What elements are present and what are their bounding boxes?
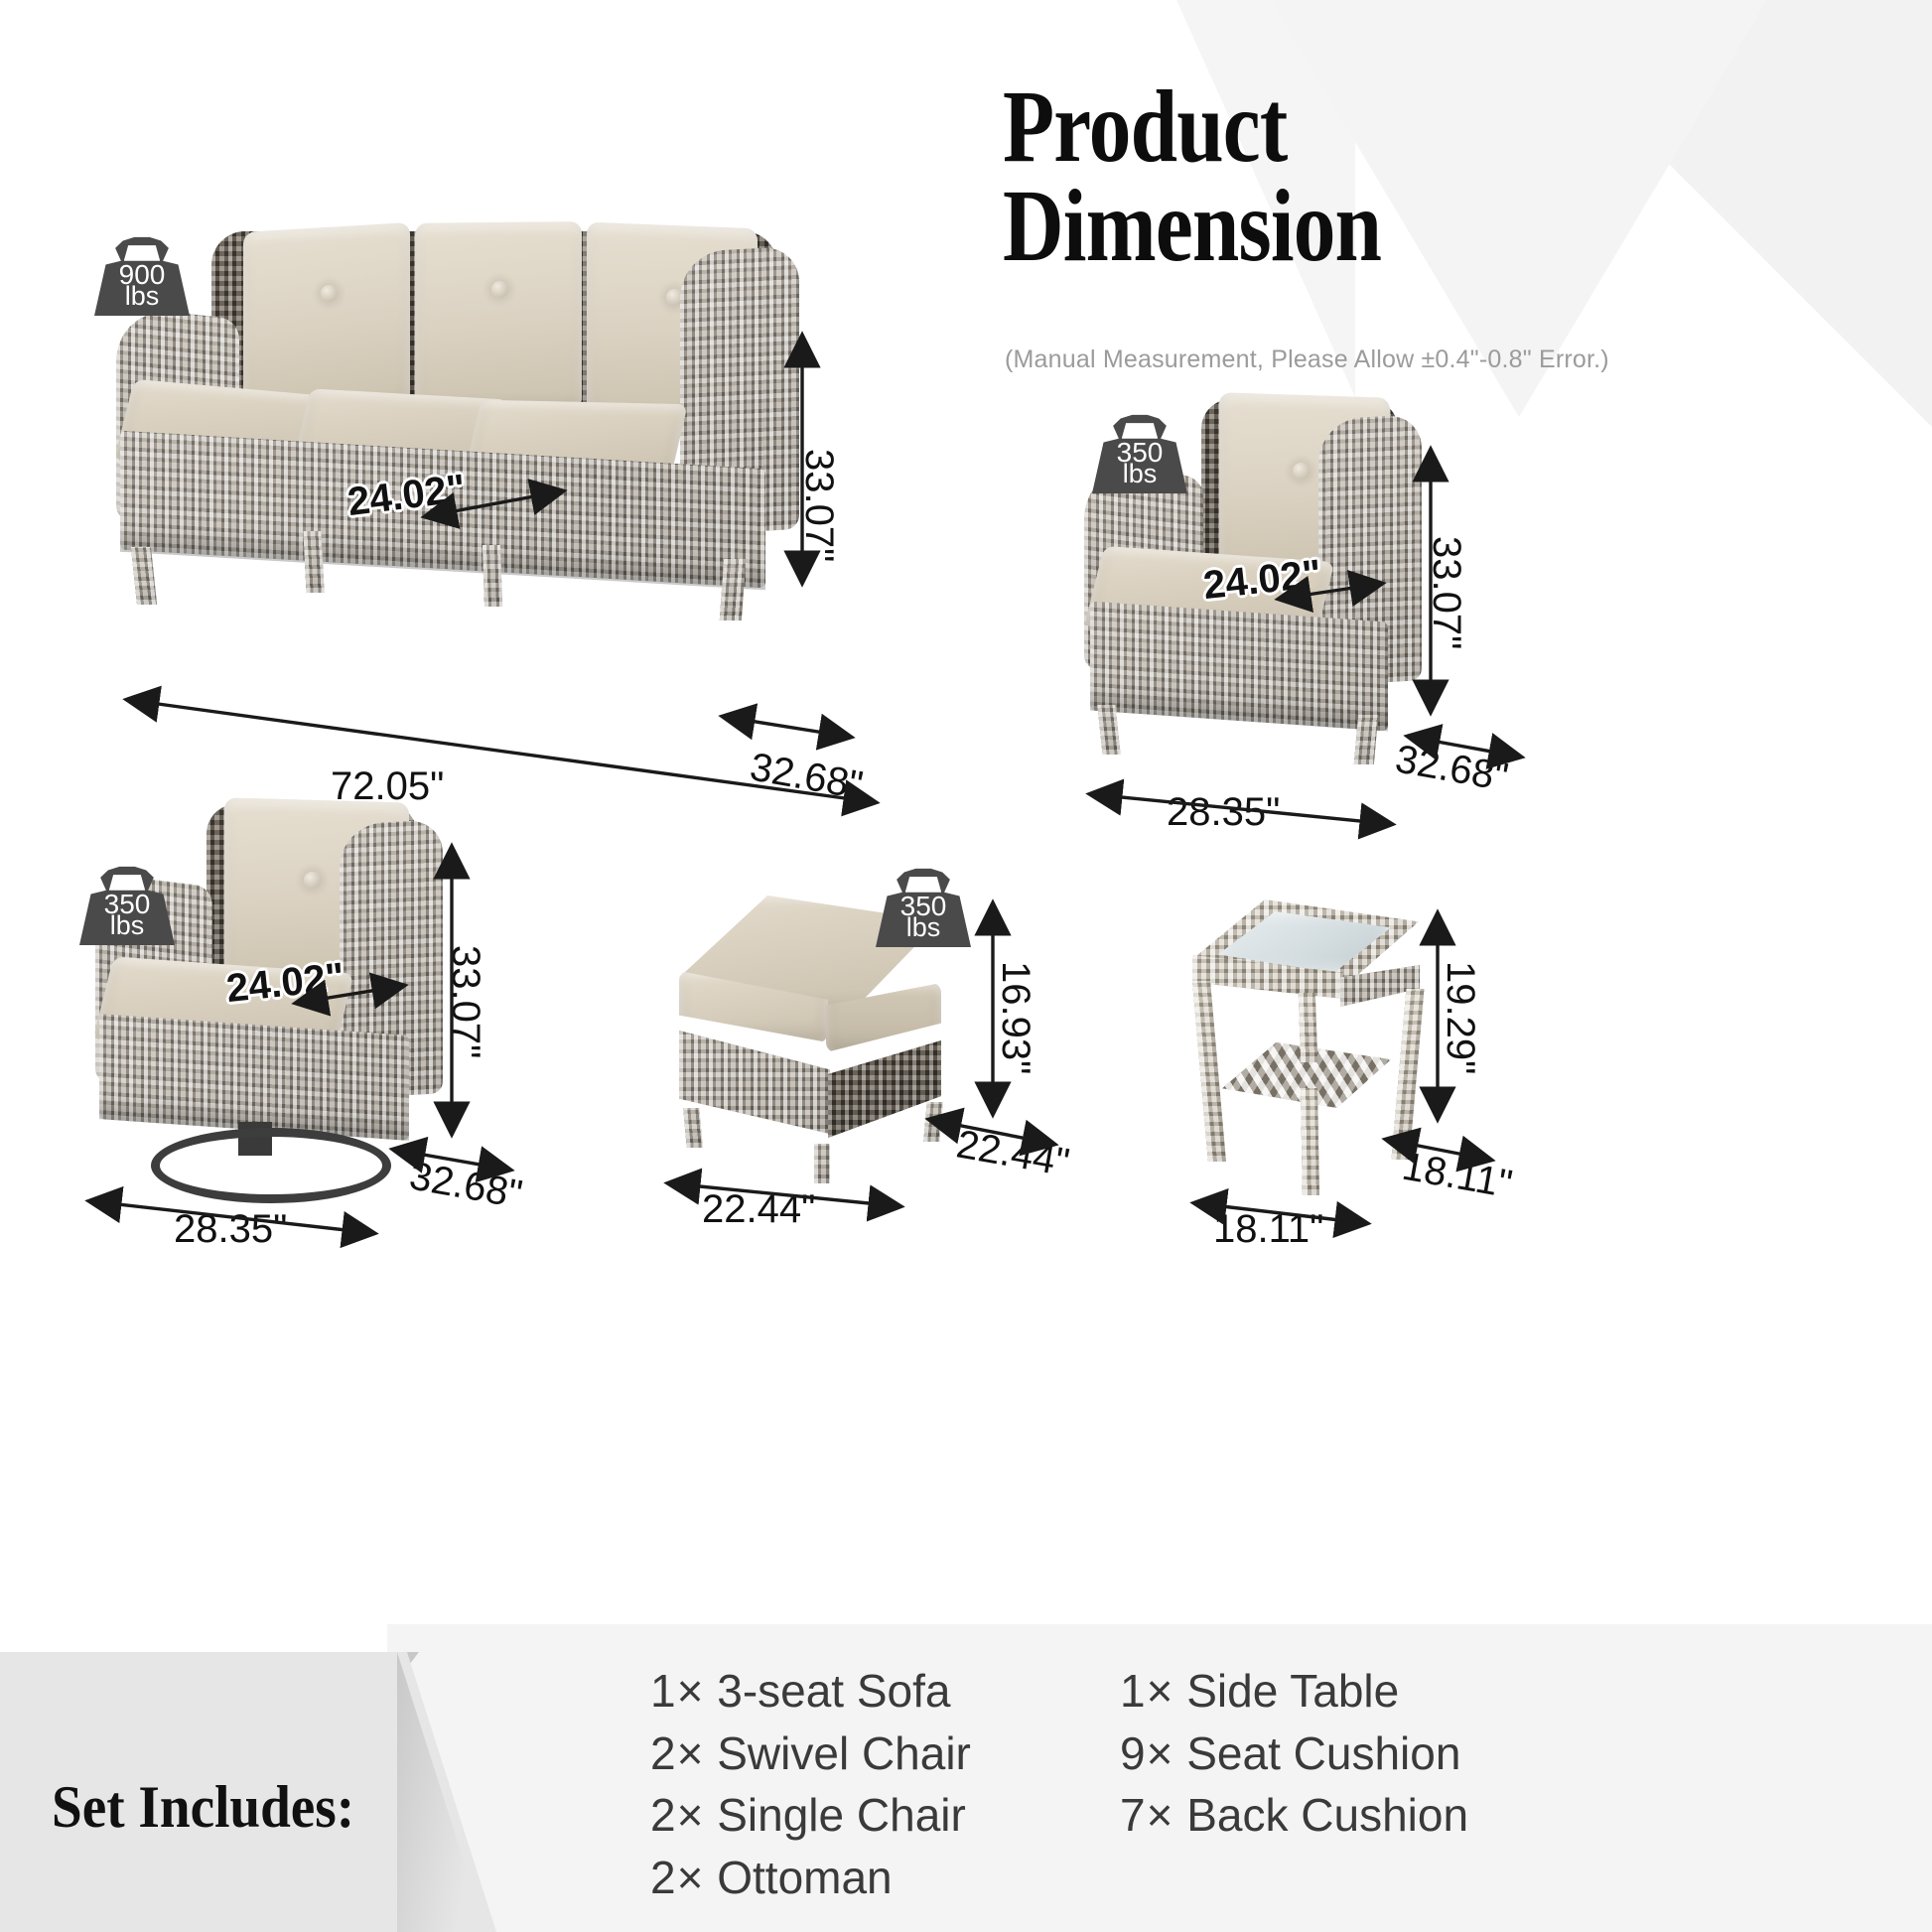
set-includes-item: 7× Back Cushion [1120, 1784, 1468, 1847]
page-title-line-2: Dimension [1003, 177, 1735, 276]
single-chair-depth-label: 32.68" [1392, 737, 1511, 800]
sofa-depth-label: 32.68" [747, 745, 866, 808]
capacity-unit: lbs [876, 914, 971, 941]
weight-capacity-badge-sofa: 900 lbs [94, 224, 190, 316]
set-item-label: Ottoman [717, 1852, 892, 1903]
swivel-chair-height-label: 33.07" [443, 945, 487, 1058]
product-illustration-side-table [1186, 894, 1425, 1201]
sofa-height-label: 33.07" [796, 449, 841, 562]
set-includes-item: 2× Single Chair [650, 1784, 971, 1847]
capacity-unit: lbs [79, 912, 175, 939]
ottoman-leg [683, 1108, 702, 1148]
single-chair-width-label: 28.35" [1167, 790, 1280, 835]
sofa-leg [483, 545, 502, 607]
weight-capacity-badge-single-chair: 350 lbs [1092, 402, 1187, 493]
sofa-leg [720, 559, 746, 621]
swivel-chair-width-label: 28.35" [174, 1207, 287, 1252]
side-table-leg [1301, 1088, 1319, 1195]
chair-leg [1097, 705, 1120, 755]
set-includes-item: 1× Side Table [1120, 1660, 1468, 1723]
ottoman-width-label: 22.44" [702, 1187, 815, 1232]
weight-capacity-badge-swivel-chair: 350 lbs [79, 854, 175, 945]
ottoman-base-front [679, 1031, 830, 1134]
set-item-qty: 1× [650, 1665, 704, 1717]
set-item-label: 3-seat Sofa [717, 1665, 950, 1717]
set-includes-item: 1× 3-seat Sofa [650, 1660, 971, 1723]
side-table-height-label: 19.29" [1438, 961, 1482, 1074]
set-includes-heading: Set Includes: [52, 1773, 354, 1842]
sofa-back-tuft [491, 281, 508, 298]
set-item-qty: 7× [1120, 1789, 1173, 1841]
set-item-qty: 2× [650, 1789, 704, 1841]
side-table-leg [1192, 981, 1226, 1162]
sofa-leg [303, 531, 324, 593]
set-item-qty: 9× [1120, 1727, 1173, 1779]
set-item-qty: 2× [650, 1727, 704, 1779]
ottoman-leg [923, 1102, 942, 1142]
product-illustration-sofa [94, 213, 809, 640]
chair-leg [1354, 715, 1378, 764]
swivel-base-ring [151, 1128, 391, 1203]
sofa-back-cushion [243, 222, 410, 416]
set-item-qty: 1× [1120, 1665, 1173, 1717]
set-item-label: Swivel Chair [717, 1727, 971, 1779]
set-item-label: Back Cushion [1186, 1789, 1468, 1841]
set-includes-item: 9× Seat Cushion [1120, 1723, 1468, 1785]
sofa-depth-arrow [725, 717, 849, 737]
capacity-unit: lbs [94, 283, 190, 310]
weight-capacity-badge-ottoman: 350 lbs [876, 856, 971, 947]
sofa-back-cushion [415, 221, 582, 412]
set-includes-column-1: 1× 3-seat Sofa 2× Swivel Chair 2× Single… [650, 1660, 971, 1908]
set-includes-column-2: 1× Side Table 9× Seat Cushion 7× Back Cu… [1120, 1660, 1468, 1847]
swivel-back-tuft [304, 872, 321, 889]
page-title: Product Dimension [1003, 77, 1735, 276]
side-table-leg [1299, 993, 1317, 1062]
ottoman-leg [814, 1144, 830, 1183]
side-table-width-label: 18.11" [1213, 1207, 1323, 1252]
set-item-qty: 2× [650, 1852, 704, 1903]
ottoman-height-label: 16.93" [993, 961, 1037, 1074]
sofa-leg [131, 547, 157, 605]
single-chair-height-label: 33.07" [1424, 536, 1468, 649]
set-item-label: Side Table [1186, 1665, 1399, 1717]
side-table-leg [1391, 989, 1424, 1160]
chair-back-tuft [1293, 463, 1310, 480]
page-title-line-1: Product [1003, 69, 1287, 184]
set-includes-item: 2× Swivel Chair [650, 1723, 971, 1785]
set-item-label: Seat Cushion [1186, 1727, 1460, 1779]
measurement-disclaimer: (Manual Measurement, Please Allow ±0.4"-… [1005, 345, 1918, 374]
capacity-unit: lbs [1092, 461, 1187, 487]
ottoman-depth-label: 22.44" [953, 1122, 1072, 1185]
set-item-label: Single Chair [717, 1789, 966, 1841]
sofa-back-tuft [321, 285, 338, 302]
set-includes-item: 2× Ottoman [650, 1847, 971, 1909]
